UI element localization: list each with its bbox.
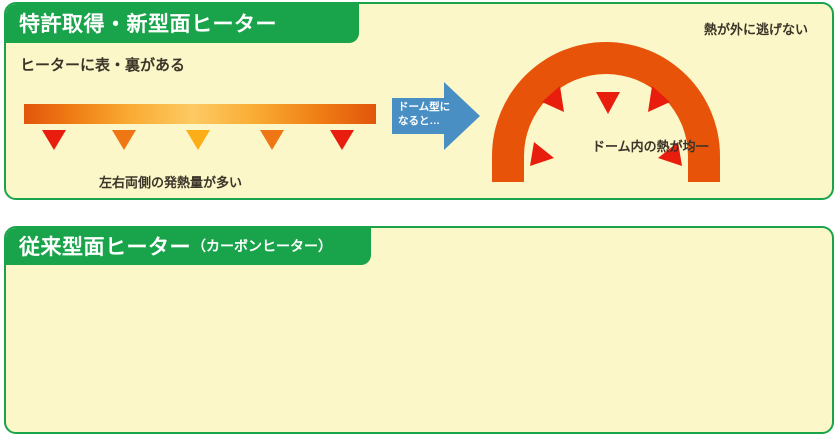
panel-new-annotation-inside: ドーム内の熱が均一 — [592, 136, 709, 155]
panel-old-header: 従来型面ヒーター （カーボンヒーター） — [5, 227, 371, 265]
panel-old-title-note: （カーボンヒーター） — [192, 236, 332, 256]
heat-triangle — [112, 130, 136, 150]
transition-arrow-label: ドーム型に なると… — [398, 100, 460, 128]
panel-new-caption: 左右両側の発熱量が多い — [99, 172, 242, 191]
panel-new-subtitle: ヒーターに表・裏がある — [20, 54, 185, 75]
panel-old-title: 従来型面ヒーター — [19, 231, 191, 261]
dome-heat-arrow — [530, 142, 554, 166]
panel-new-header: 特許取得・新型面ヒーター — [5, 3, 359, 43]
heat-triangle — [330, 130, 354, 150]
dome-new-heater — [478, 30, 734, 182]
heat-triangle — [260, 130, 284, 150]
infographic-root: 特許取得・新型面ヒーター ヒーターに表・裏がある 左右両側の発熱量が多い ドーム… — [0, 0, 840, 438]
dome-heat-arrow — [596, 92, 620, 114]
panel-new-annotation-outside: 熱が外に逃げない — [704, 19, 808, 38]
transition-arrow-new: ドーム型に なると… — [392, 80, 480, 152]
arrow-label-line2: なると… — [398, 114, 460, 128]
panel-old-heater: 従来型面ヒーター （カーボンヒーター） ヒーターに表・裏が無い 全面が均一に発熱… — [4, 226, 834, 434]
heat-triangle — [186, 130, 210, 150]
heater-bar-gradient — [24, 104, 376, 124]
panel-new-heater: 特許取得・新型面ヒーター ヒーターに表・裏がある 左右両側の発熱量が多い ドーム… — [4, 2, 834, 200]
panel-new-title: 特許取得・新型面ヒーター — [19, 8, 277, 38]
heat-triangle — [42, 130, 66, 150]
arrow-label-line1: ドーム型に — [398, 100, 460, 114]
